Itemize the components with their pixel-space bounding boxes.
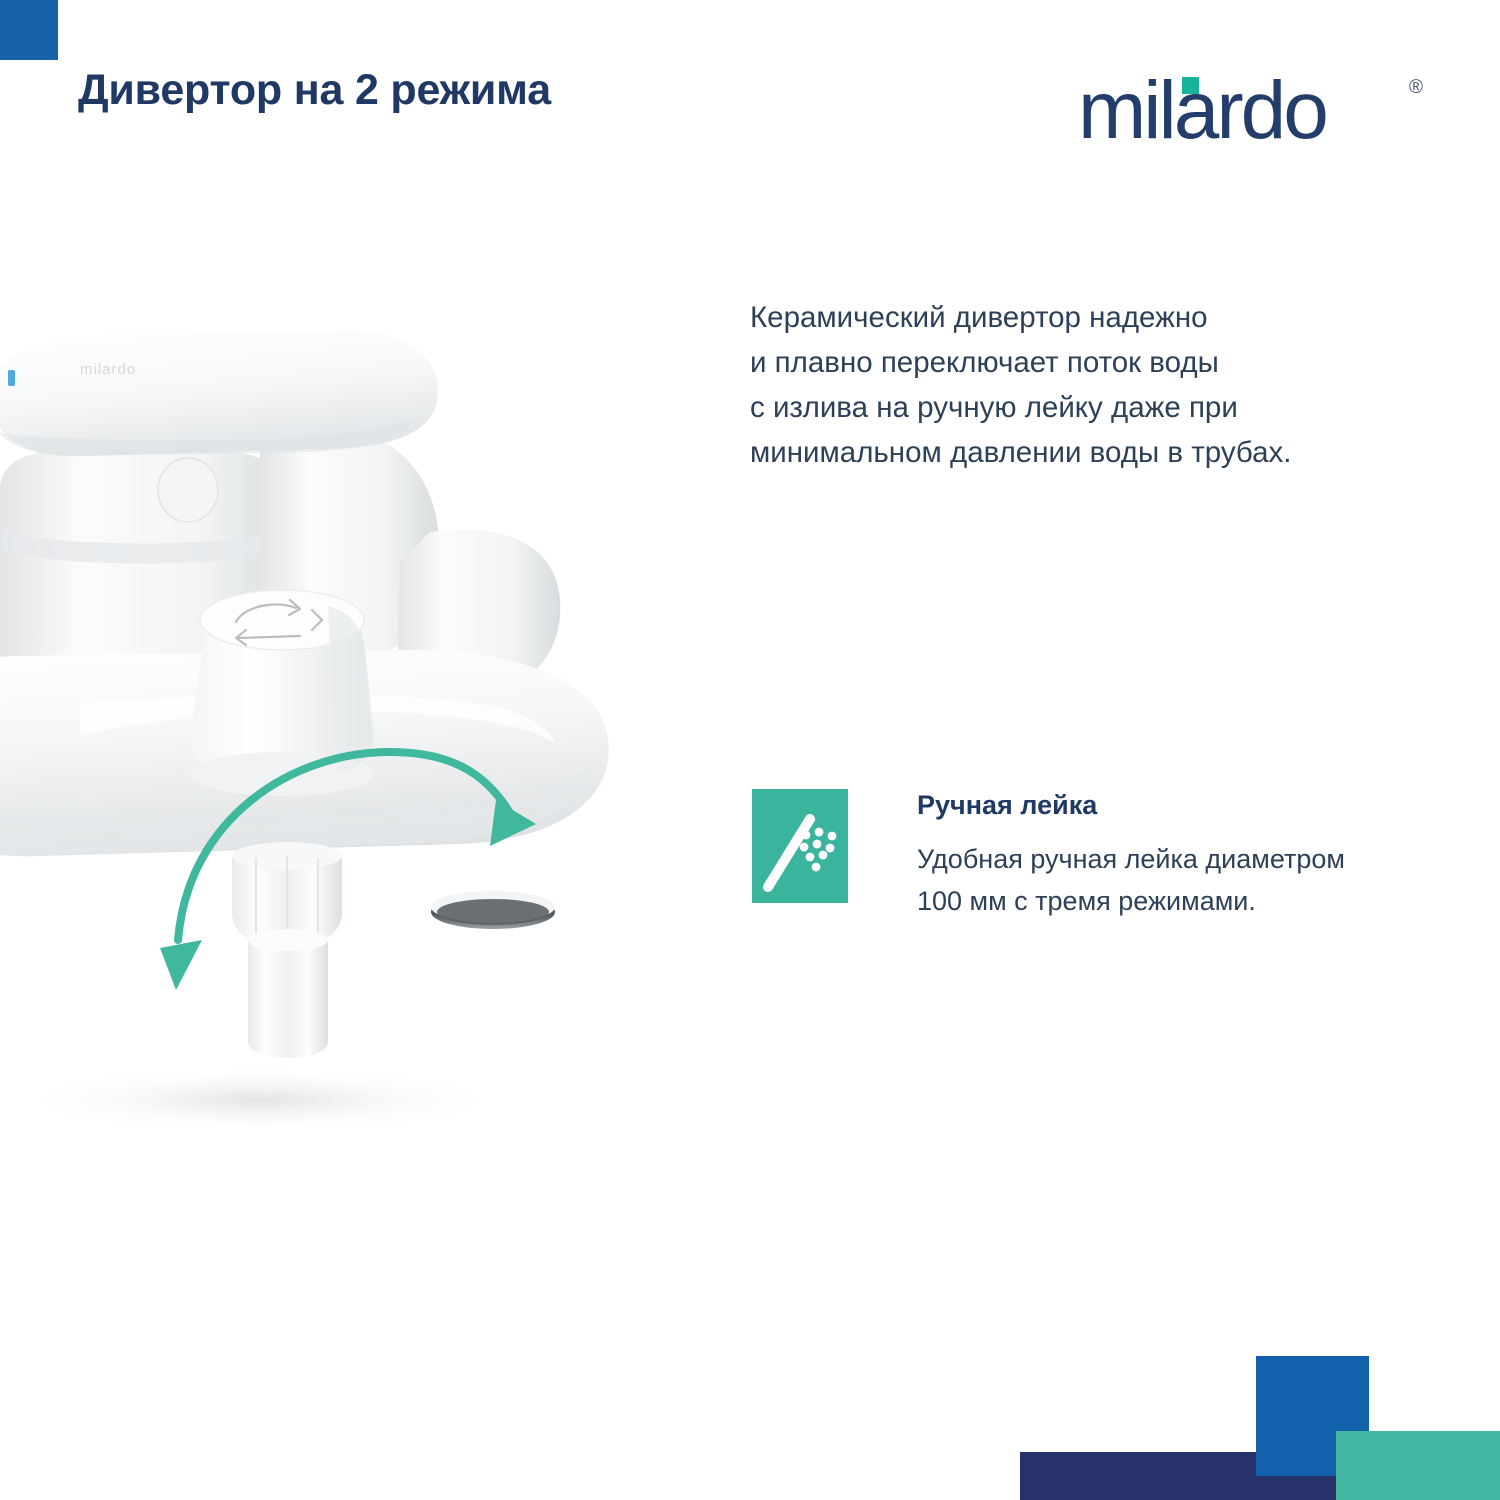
registered-trademark-icon: ® bbox=[1409, 78, 1423, 97]
product-shadow bbox=[10, 1066, 510, 1130]
logo-wordmark: milardo bbox=[1078, 66, 1326, 156]
product-photo-bath-mixer: milardo bbox=[0, 300, 660, 1130]
main-description-line: с излива на ручную лейку даже при bbox=[750, 385, 1390, 430]
main-description-line: Керамический дивертор надежно bbox=[750, 295, 1390, 340]
feature-description-line: Удобная ручная лейка диаметром bbox=[917, 838, 1417, 880]
main-description-line: и плавно переключает поток воды bbox=[750, 340, 1390, 385]
feature-description-line: 100 мм с тремя режимами. bbox=[917, 880, 1417, 922]
feature-title: Ручная лейка bbox=[917, 790, 1097, 821]
main-description: Керамический дивертор надежно и плавно п… bbox=[750, 295, 1390, 475]
svg-text:milardo: milardo bbox=[80, 361, 136, 378]
page-title: Дивертор на 2 режима bbox=[78, 66, 551, 115]
bottom-teal-square bbox=[1336, 1431, 1500, 1500]
feature-description: Удобная ручная лейка диаметром 100 мм с … bbox=[917, 838, 1417, 922]
main-description-line: минимальном давлении воды в трубах. bbox=[750, 430, 1390, 475]
brand-logo: milardo ® bbox=[1078, 66, 1438, 156]
top-left-corner-block bbox=[0, 0, 58, 60]
hand-shower-icon bbox=[752, 789, 848, 903]
logo-i-dot-square bbox=[1182, 77, 1199, 94]
infographic-page: Дивертор на 2 режима milardo ® bbox=[0, 0, 1500, 1500]
